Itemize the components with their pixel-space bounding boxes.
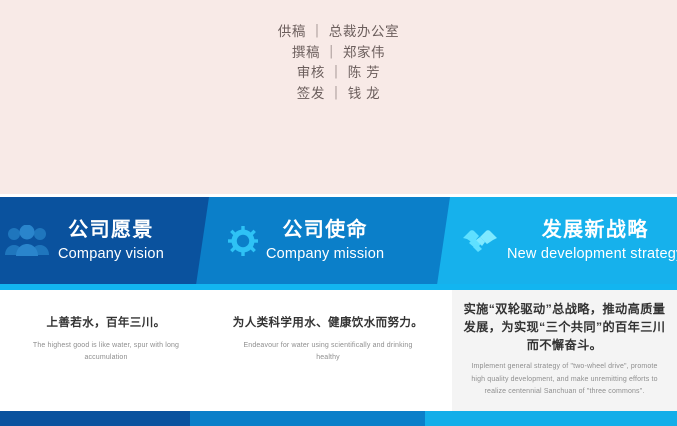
content-en-strategy: Implement general strategy of "two-wheel… [452, 361, 677, 399]
content-column-vision: 上善若水，百年三川。 The highest good is like wate… [0, 290, 212, 411]
footer-segment-3 [425, 411, 677, 426]
slide-root: 供稿 ｜ 总裁办公室 撰稿 ｜ 郑家伟 审核 ｜ 陈 芳 签发 ｜ 钱 龙 公司… [0, 0, 677, 426]
banner-panel-2-text: 公司使命 Company mission [266, 218, 384, 265]
banner-title-en-vision: Company vision [58, 243, 164, 265]
banner-title-en-strategy: New development strategy [507, 243, 677, 265]
content-column-mission: 为人类科学用水、健康饮水而努力。 Endeavour for water usi… [212, 290, 444, 411]
people-group-icon [4, 225, 50, 257]
gear-icon [228, 226, 258, 256]
footer-segment-2 [190, 411, 425, 426]
content-en-mission: Endeavour for water using scientifically… [212, 340, 444, 364]
banner-panel-3-content: 发展新战略 New development strategy [461, 197, 677, 285]
content-row: 上善若水，百年三川。 The highest good is like wate… [0, 290, 677, 411]
content-column-mission-body: 为人类科学用水、健康饮水而努力。 Endeavour for water usi… [212, 315, 444, 364]
content-column-strategy-body: 实施“双轮驱动”总战略，推动高质量发展，为实现“三个共同”的百年三川而不懈奋斗。… [452, 300, 677, 399]
banner-panel-2-content: 公司使命 Company mission [228, 197, 384, 285]
footer-segment-1 [0, 411, 190, 426]
content-cn-strategy: 实施“双轮驱动”总战略，推动高质量发展，为实现“三个共同”的百年三川而不懈奋斗。 [452, 300, 677, 354]
credits-block: 供稿 ｜ 总裁办公室 撰稿 ｜ 郑家伟 审核 ｜ 陈 芳 签发 ｜ 钱 龙 [0, 22, 677, 104]
banner-title-en-mission: Company mission [266, 243, 384, 265]
banner: 公司愿景 Company vision [0, 197, 677, 285]
banner-title-cn-mission: 公司使命 [282, 218, 368, 243]
credits-line-contributor: 供稿 ｜ 总裁办公室 [0, 22, 677, 43]
banner-panel-1-content: 公司愿景 Company vision [4, 197, 164, 285]
footer-strip [0, 411, 677, 426]
banner-panel-1-text: 公司愿景 Company vision [58, 218, 164, 265]
banner-title-cn-vision: 公司愿景 [68, 218, 154, 243]
credits-line-writer: 撰稿 ｜ 郑家伟 [0, 43, 677, 64]
banner-panel-3-text: 发展新战略 New development strategy [507, 218, 677, 265]
content-column-strategy: 实施“双轮驱动”总战略，推动高质量发展，为实现“三个共同”的百年三川而不懈奋斗。… [452, 290, 677, 411]
content-en-vision: The highest good is like water, spur wit… [0, 340, 212, 364]
credits-line-reviewer: 审核 ｜ 陈 芳 [0, 63, 677, 84]
content-column-vision-body: 上善若水，百年三川。 The highest good is like wate… [0, 315, 212, 364]
content-cn-vision: 上善若水，百年三川。 [0, 315, 212, 332]
credits-line-issuer: 签发 ｜ 钱 龙 [0, 84, 677, 105]
banner-title-cn-strategy: 发展新战略 [542, 218, 649, 243]
handshake-icon [461, 226, 499, 256]
content-cn-mission: 为人类科学用水、健康饮水而努力。 [212, 315, 444, 332]
